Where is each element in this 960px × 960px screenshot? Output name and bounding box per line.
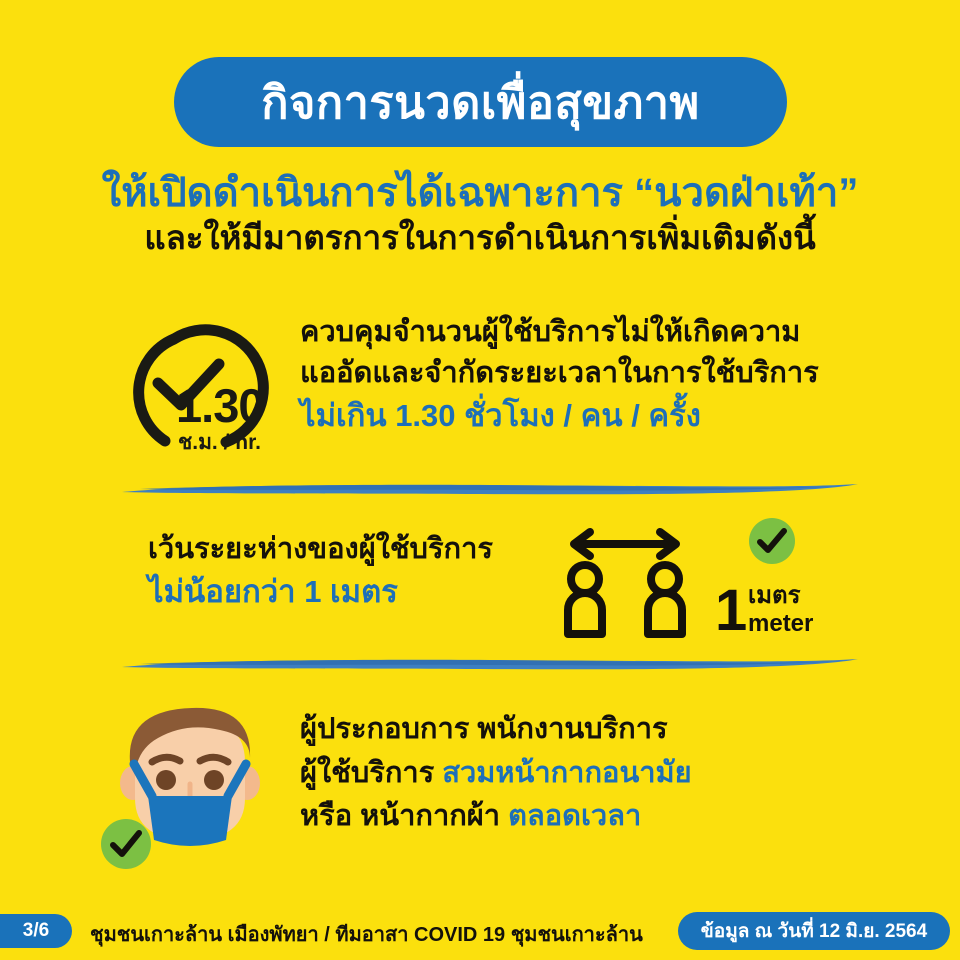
distance-unit-th: เมตร: [748, 582, 801, 609]
distance-value: 1: [715, 582, 747, 640]
face-mask-line-3-accent: ตลอดเวลา: [508, 800, 641, 832]
time-limit-line-3: ไม่เกิน 1.30 ชั่วโมง / คน / ครั้ง: [300, 394, 819, 438]
face-mask-line-2-accent: สวมหน้ากากอนามัย: [442, 757, 691, 789]
face-mask-line-3-prefix: หรือ หน้ากากผ้า: [300, 800, 508, 832]
date-badge-label: ข้อมูล ณ วันที่ 12 มิ.ย. 2564: [701, 916, 927, 946]
time-limit-line-2: แออัดและจำกัดระยะเวลาในการใช้บริการ: [300, 353, 819, 394]
face-mask-line-3: หรือ หน้ากากผ้า ตลอดเวลา: [300, 795, 692, 839]
distancing-line-2: ไม่น้อยกว่า 1 เมตร: [148, 570, 493, 615]
distance-unit-en: meter: [748, 610, 813, 637]
page-title: กิจการนวดเพื่อสุขภาพ: [261, 80, 699, 125]
face-mask-line-1: ผู้ประกอบการ พนักงานบริการ: [300, 708, 692, 752]
green-check-badge: [748, 517, 796, 565]
footer-bar: 3/6 ชุมชนเกาะล้าน เมืองพัทยา / ทีมอาสา C…: [0, 908, 960, 960]
face-mask-text: ผู้ประกอบการ พนักงานบริการ ผู้ใช้บริการ …: [300, 708, 692, 839]
distancing-text: เว้นระยะห่างของผู้ใช้บริการ ไม่น้อยกว่า …: [148, 528, 493, 615]
clock-value: 1.30: [176, 382, 263, 429]
brush-divider: [120, 652, 860, 674]
subtitle-line-1: ให้เปิดดำเนินการได้เฉพาะการ “นวดฝ่าเท้า”: [0, 170, 960, 217]
time-limit-text: ควบคุมจำนวนผู้ใช้บริการไม่ให้เกิดความ แอ…: [300, 312, 819, 438]
page-title-banner: กิจการนวดเพื่อสุขภาพ: [174, 57, 787, 147]
clock-unit: ช.ม. / hr.: [178, 432, 261, 453]
face-mask-line-2: ผู้ใช้บริการ สวมหน้ากากอนามัย: [300, 752, 692, 796]
page-indicator-label: 3/6: [23, 920, 49, 942]
page-indicator: 3/6: [0, 914, 72, 948]
subtitle-block: ให้เปิดดำเนินการได้เฉพาะการ “นวดฝ่าเท้า”…: [0, 170, 960, 260]
distance-unit: เมตร meter: [748, 582, 813, 639]
social-distance-icon: 1 เมตร meter: [560, 522, 860, 642]
green-check-badge: [100, 818, 152, 870]
subtitle-line-2: และให้มีมาตรการในการดำเนินการเพิ่มเติมดั…: [0, 217, 960, 260]
time-limit-line-1: ควบคุมจำนวนผู้ใช้บริการไม่ให้เกิดความ: [300, 312, 819, 353]
distancing-line-1: เว้นระยะห่างของผู้ใช้บริการ: [148, 528, 493, 570]
section-time-limit: 1.30 ช.ม. / hr. ควบคุมจำนวนผู้ใช้บริการไ…: [0, 312, 960, 472]
section-distancing: เว้นระยะห่างของผู้ใช้บริการ ไม่น้อยกว่า …: [0, 512, 960, 647]
brush-divider: [120, 478, 860, 500]
date-badge: ข้อมูล ณ วันที่ 12 มิ.ย. 2564: [678, 912, 950, 950]
clock-check-icon: 1.30 ช.ม. / hr.: [118, 320, 293, 465]
footer-credit: ชุมชนเกาะล้าน เมืองพัทยา / ทีมอาสา COVID…: [90, 918, 643, 950]
face-mask-line-2-prefix: ผู้ใช้บริการ: [300, 757, 442, 789]
